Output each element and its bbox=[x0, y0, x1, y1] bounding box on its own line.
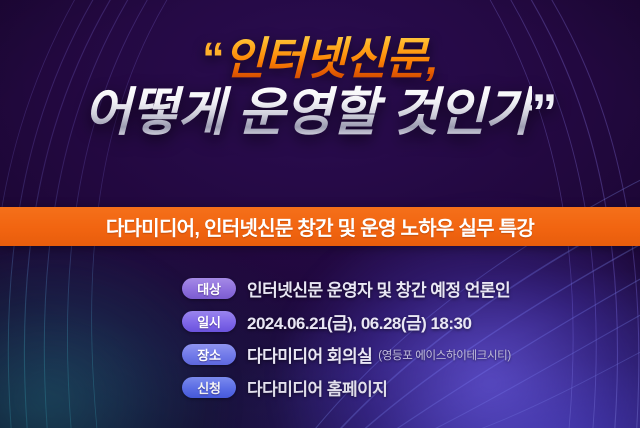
badge-label-venue: 장소 bbox=[182, 344, 236, 365]
info-row-datetime: 일시 2024.06.21(금), 06.28(금) 18:30 bbox=[182, 309, 477, 334]
info-value-target: 인터넷신문 운영자 및 창간 예정 언론인 bbox=[247, 276, 510, 301]
badge-label-apply: 신청 bbox=[182, 377, 236, 398]
subtitle-band: 다다미디어, 인터넷신문 창간 및 운영 노하우 실무 특강 bbox=[0, 207, 640, 246]
info-row-target: 대상 인터넷신문 운영자 및 창간 예정 언론인 bbox=[182, 276, 516, 301]
info-value-venue: 다다미디어 회의실 bbox=[247, 342, 372, 367]
headline: “인터넷신문, 어떻게 운영할 것인가” bbox=[0, 36, 640, 139]
info-note-venue: (영등포 에이스하이테크시티) bbox=[378, 347, 511, 363]
info-value-apply: 다다미디어 홈페이지 bbox=[247, 375, 387, 400]
info-value-datetime: 2024.06.21(금), 06.28(금) 18:30 bbox=[247, 309, 471, 334]
info-list: 대상 인터넷신문 운영자 및 창간 예정 언론인 일시 2024.06.21(금… bbox=[0, 276, 640, 400]
info-row-apply: 신청 다다미디어 홈페이지 bbox=[182, 375, 393, 400]
info-row-venue: 장소 다다미디어 회의실 (영등포 에이스하이테크시티) bbox=[182, 342, 511, 367]
open-quote: “ bbox=[202, 33, 224, 84]
headline-line-2: 어떻게 운영할 것인가” bbox=[0, 87, 640, 139]
close-quote: ” bbox=[532, 84, 557, 142]
badge-label-target: 대상 bbox=[182, 278, 236, 299]
badge-label-datetime: 일시 bbox=[182, 311, 236, 332]
subtitle-text: 다다미디어, 인터넷신문 창간 및 운영 노하우 실무 특강 bbox=[106, 212, 534, 241]
headline-line-1-text: 인터넷신문, bbox=[224, 33, 438, 84]
headline-line-2-text: 어떻게 운영할 것인가 bbox=[84, 84, 532, 142]
promo-banner: “인터넷신문, 어떻게 운영할 것인가” 다다미디어, 인터넷신문 창간 및 운… bbox=[0, 0, 640, 428]
headline-line-1: “인터넷신문, bbox=[0, 36, 640, 81]
